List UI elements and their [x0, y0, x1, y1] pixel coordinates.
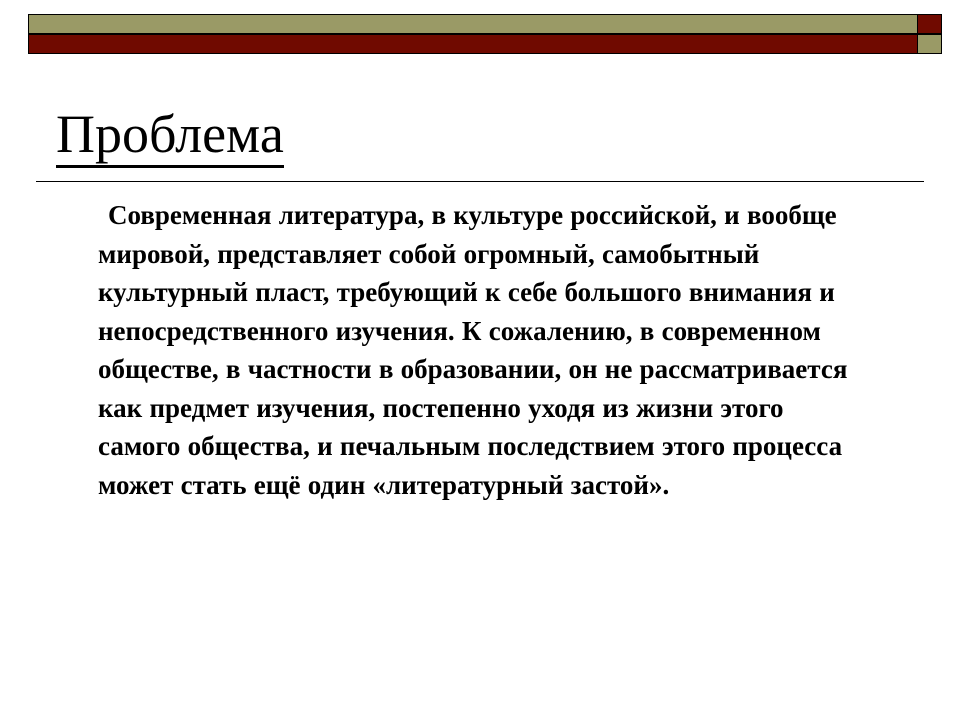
title-container: Проблема — [56, 104, 916, 168]
page-title-text: Проблема — [56, 104, 284, 168]
title-divider — [36, 181, 924, 182]
banner-band-olive — [28, 14, 917, 34]
banner-row-top — [28, 14, 942, 34]
decorative-banner — [28, 14, 942, 54]
banner-square-olive-bottom — [917, 34, 942, 54]
banner-square-maroon-top — [917, 14, 942, 34]
page-title: Проблема — [56, 104, 916, 168]
body-container: Современная литература, в культуре росси… — [98, 196, 868, 504]
banner-row-bottom — [28, 34, 942, 54]
slide: Проблема Современная литература, в культ… — [0, 0, 960, 720]
banner-band-maroon — [28, 34, 917, 54]
body-paragraph: Современная литература, в культуре росси… — [98, 196, 868, 504]
